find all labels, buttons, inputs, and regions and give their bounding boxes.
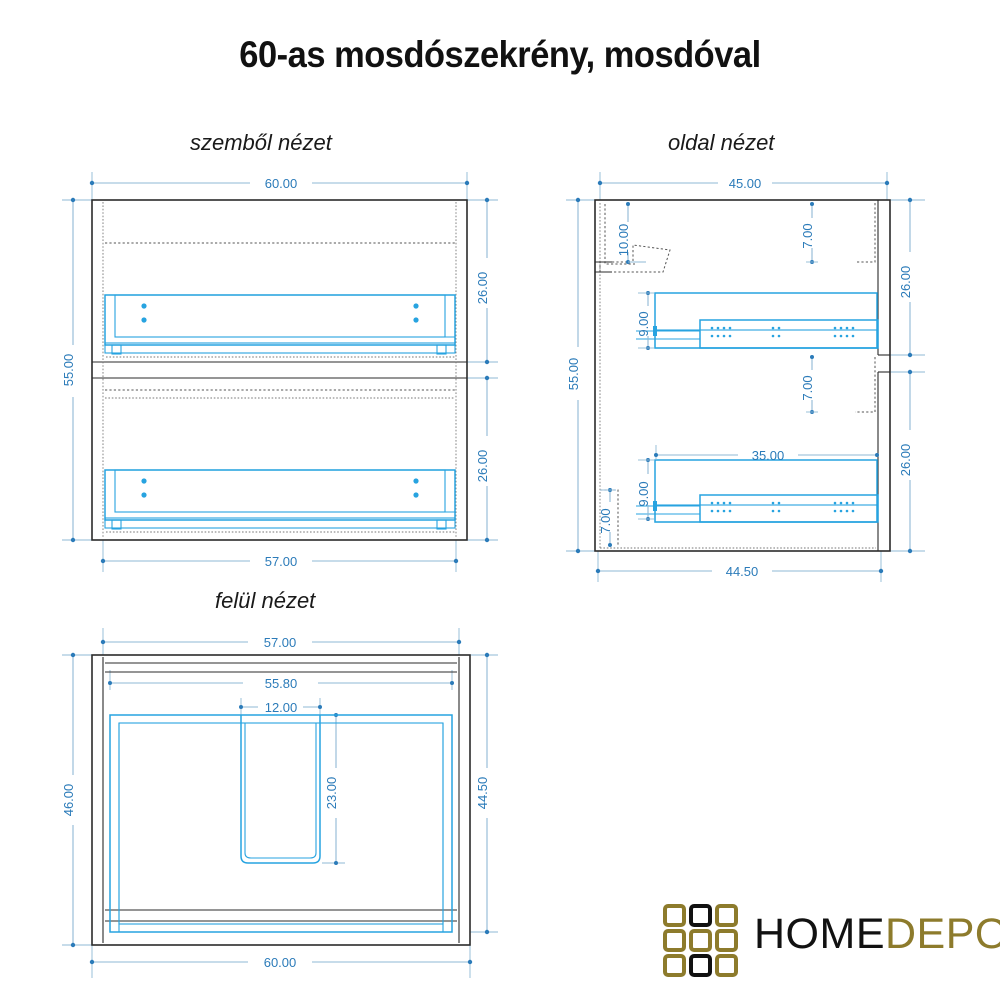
side-dim-9-lower: 9.00 <box>636 458 654 521</box>
dim-value: 46.00 <box>61 784 76 817</box>
side-upper-runner <box>700 320 878 348</box>
top-dim-12: 12.00 <box>239 698 322 715</box>
logo-text-depo: DEPO <box>885 910 1000 958</box>
top-carcass-outline <box>92 655 470 945</box>
dim-value: 44.50 <box>475 777 490 810</box>
dim-value: 7.00 <box>800 375 815 400</box>
dim-value: 55.80 <box>265 676 298 691</box>
top-dim-23: 23.00 <box>322 713 345 865</box>
front-upper-drawer <box>105 295 455 357</box>
dim-value: 26.00 <box>898 444 913 477</box>
dim-value: 60.00 <box>265 176 298 191</box>
side-dim-26-lower: 26.00 <box>890 370 925 553</box>
dim-value: 55.00 <box>61 354 76 387</box>
runner-holes <box>711 502 855 513</box>
drawing-canvas: .ol{fill:none;stroke:#2b2b2b;stroke-widt… <box>0 0 1000 1000</box>
top-basin <box>110 715 452 932</box>
side-dim-7-bottom: 7.00 <box>598 488 616 547</box>
front-dim-26-lower: 26.00 <box>467 376 498 542</box>
front-view: 60.00 55.00 26.00 <box>61 172 498 572</box>
side-upper-drawer: 9.00 <box>636 291 878 350</box>
top-dim-5580: 55.80 <box>108 670 454 691</box>
technical-drawing-sheet: 60-as mosdószekrény, mosdóval szemből né… <box>0 0 1000 1000</box>
front-carcass-outline <box>92 200 467 540</box>
dim-value: 26.00 <box>898 266 913 299</box>
dim-value: 10.00 <box>616 224 631 257</box>
side-lower-drawer: 9.00 35.00 <box>636 445 879 522</box>
side-dim-4450: 44.50 <box>596 551 883 582</box>
dim-value: 60.00 <box>264 955 297 970</box>
dim-value: 9.00 <box>636 311 651 336</box>
side-dim-10: 10.00 <box>616 202 646 264</box>
top-dim-46: 46.00 <box>61 653 92 947</box>
logo-text-home: HOME <box>754 910 885 958</box>
dim-value: 44.50 <box>726 564 759 579</box>
top-dim-60: 60.00 <box>90 945 472 978</box>
dim-value: 45.00 <box>729 176 762 191</box>
logo-wordmark: HOMEDEPO <box>754 910 1000 959</box>
top-dim-4450: 44.50 <box>470 653 498 934</box>
side-dim-45: 45.00 <box>598 172 889 200</box>
front-dim-57: 57.00 <box>101 540 458 572</box>
front-lower-drawer <box>105 470 455 532</box>
top-drain-cutout <box>241 715 320 863</box>
front-dim-55: 55.00 <box>61 198 92 542</box>
top-view: 57.00 46.00 44.50 <box>61 628 498 978</box>
side-inset-bottom-left: 7.00 <box>598 488 618 547</box>
top-dim-57: 57.00 <box>101 628 461 655</box>
side-inset-top-right: 7.00 <box>800 202 875 264</box>
side-inset-mid-right: 7.00 <box>800 355 875 414</box>
side-dim-9-upper: 9.00 <box>636 291 654 350</box>
side-wall-bracket: 10.00 <box>595 202 670 272</box>
homedepo-logo[interactable]: HOMEDEPO <box>662 900 982 985</box>
front-dim-26-upper: 26.00 <box>467 198 498 364</box>
side-dim-7-mid: 7.00 <box>800 355 818 414</box>
dim-value: 7.00 <box>800 223 815 248</box>
dim-value: 57.00 <box>264 635 297 650</box>
side-lower-runner <box>700 495 878 522</box>
side-dim-7-top: 7.00 <box>800 202 818 264</box>
dim-value: 12.00 <box>265 700 298 715</box>
dim-value: 55.00 <box>566 358 581 391</box>
dim-value: 9.00 <box>636 481 651 506</box>
dim-value: 26.00 <box>475 272 490 305</box>
runner-holes <box>711 327 855 338</box>
front-dim-60: 60.00 <box>90 172 469 200</box>
dim-value: 26.00 <box>475 450 490 483</box>
dim-value: 35.00 <box>752 448 785 463</box>
side-dim-26-upper: 26.00 <box>890 198 925 357</box>
dim-value: 7.00 <box>598 508 613 533</box>
logo-grid-icon <box>662 903 742 979</box>
side-view: 45.00 55.00 26.00 <box>566 172 925 582</box>
dim-value: 57.00 <box>265 554 298 569</box>
side-dim-55: 55.00 <box>566 198 595 553</box>
dim-value: 23.00 <box>324 777 339 810</box>
